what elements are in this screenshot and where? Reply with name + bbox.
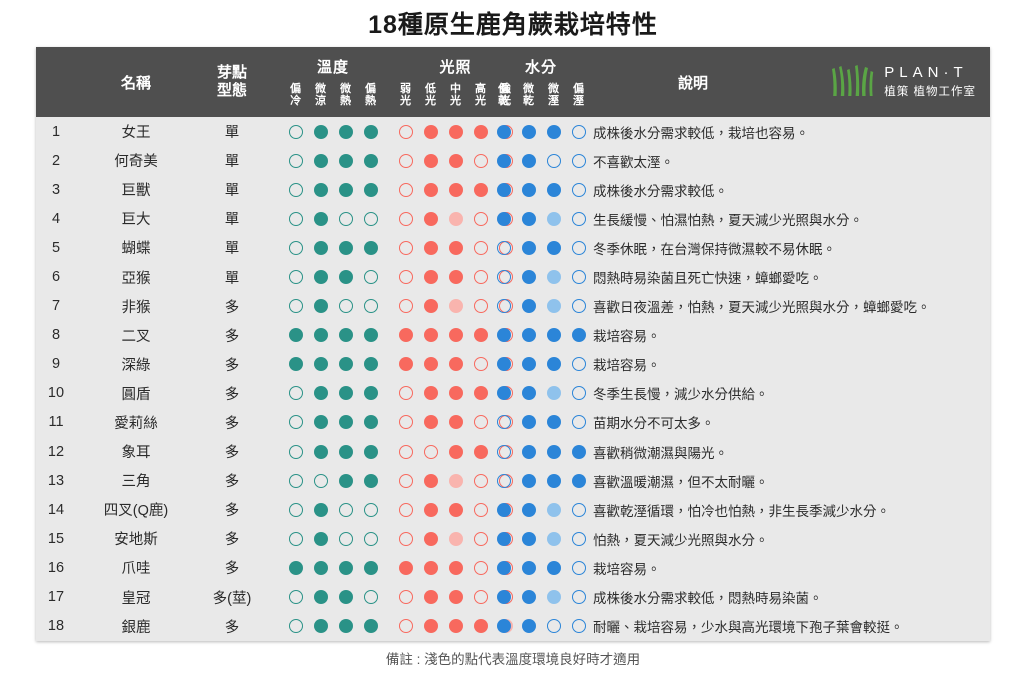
dot-temp-2-full [339, 241, 353, 255]
row-description: 冬季生長慢，減少水分供給。 [593, 383, 982, 403]
page-title: 18種原生鹿角蕨栽培特性 [0, 0, 1026, 44]
dot-light-2-full [449, 154, 463, 168]
dot-temp-1-full [314, 590, 328, 604]
table-row[interactable]: 10圓盾多冬季生長慢，減少水分供給。 [36, 379, 990, 408]
dot-water-2-full [547, 561, 561, 575]
dot-light-0-empty [399, 125, 413, 139]
row-species-name: 銀鹿 [76, 616, 196, 637]
dot-temp-2-empty [339, 503, 353, 517]
header-description: 說明 [593, 47, 793, 117]
dot-water-0-full [497, 561, 511, 575]
dot-light-1-empty [424, 445, 438, 459]
dot-temp-1-full [314, 270, 328, 284]
dot-water-3-empty [572, 561, 586, 575]
row-index: 13 [36, 473, 76, 489]
row-description: 生長緩慢、怕濕怕熱，夏天減少光照與水分。 [593, 209, 982, 229]
dot-water-3-empty [572, 386, 586, 400]
row-description: 喜歡稍微潮濕與陽光。 [593, 442, 982, 462]
dot-light-3-full [474, 328, 488, 342]
dot-water-1-full [522, 619, 536, 633]
dot-water-0-full [497, 212, 511, 226]
dot-water-2-full [547, 474, 561, 488]
dot-temp-1-full [314, 212, 328, 226]
row-bud-type: 單 [196, 150, 268, 171]
row-index: 9 [36, 356, 76, 372]
dot-temp-2-full [339, 183, 353, 197]
dot-water-2-full [547, 445, 561, 459]
dot-temp-2-full [339, 125, 353, 139]
row-description: 悶熱時易染菌且死亡快速，蟑螂愛吃。 [593, 267, 982, 287]
dot-water-1-full [522, 270, 536, 284]
dot-light-1-full [424, 590, 438, 604]
dot-light-2-full [449, 183, 463, 197]
dot-light-3-full [474, 125, 488, 139]
dot-temp-3-full [364, 415, 378, 429]
dot-light-0-full [399, 328, 413, 342]
dot-water-2-full [547, 241, 561, 255]
dot-water-0-full [497, 532, 511, 546]
dot-light-1-full [424, 125, 438, 139]
row-index: 11 [36, 414, 76, 430]
dot-water-3-empty [572, 154, 586, 168]
row-species-name: 安地斯 [76, 528, 196, 549]
dot-light-0-empty [399, 212, 413, 226]
dot-temp-2-full [339, 561, 353, 575]
dot-temp-1-full [314, 357, 328, 371]
dot-temp-1-full [314, 154, 328, 168]
row-bud-type: 多 [196, 325, 268, 346]
dot-temp-0-empty [289, 241, 303, 255]
dot-temp-2-full [339, 474, 353, 488]
dot-water-0-empty [497, 415, 511, 429]
dot-temp-2-full [339, 357, 353, 371]
row-species-name: 爪哇 [76, 557, 196, 578]
dot-temp-1-full [314, 241, 328, 255]
row-index: 8 [36, 327, 76, 343]
dot-light-2-full [449, 125, 463, 139]
dot-temp-0-empty [289, 474, 303, 488]
dot-light-2-full [449, 415, 463, 429]
dot-temp-0-empty [289, 590, 303, 604]
row-index: 6 [36, 269, 76, 285]
plant-brush-mark-icon [829, 65, 875, 99]
dot-water-1-full [522, 299, 536, 313]
row-species-name: 蝴蝶 [76, 237, 196, 258]
row-water-dots [491, 386, 591, 400]
row-bud-type: 多 [196, 528, 268, 549]
dot-temp-3-empty [364, 532, 378, 546]
dot-water-3-empty [572, 532, 586, 546]
table-row[interactable]: 5蝴蝶單冬季休眠，在台灣保持微濕較不易休眠。 [36, 233, 990, 262]
dot-light-1-full [424, 357, 438, 371]
row-species-name: 二叉 [76, 325, 196, 346]
row-index: 5 [36, 240, 76, 256]
dot-water-0-full [497, 357, 511, 371]
dot-temp-3-full [364, 154, 378, 168]
row-species-name: 女王 [76, 121, 196, 142]
dot-temp-2-full [339, 154, 353, 168]
row-bud-type: 多 [196, 499, 268, 520]
row-index: 1 [36, 124, 76, 140]
dot-temp-3-full [364, 619, 378, 633]
dot-temp-3-full [364, 183, 378, 197]
dot-water-2-full [547, 125, 561, 139]
row-temp-dots [283, 299, 383, 313]
dot-temp-1-full [314, 183, 328, 197]
dot-light-0-empty [399, 445, 413, 459]
dot-temp-0-full [289, 357, 303, 371]
row-temp-dots [283, 474, 383, 488]
header-sub-light-1: 低 光 [418, 83, 443, 108]
dot-temp-0-empty [289, 503, 303, 517]
table-row[interactable]: 11愛莉絲多苗期水分不可太多。 [36, 408, 990, 437]
row-water-dots [491, 183, 591, 197]
header-group-water: 水分 偏 乾 微 乾 微 溼 偏 溼 [491, 47, 591, 117]
dot-light-2-full [449, 270, 463, 284]
table-row[interactable]: 6亞猴單悶熱時易染菌且死亡快速，蟑螂愛吃。 [36, 262, 990, 291]
row-species-name: 非猴 [76, 296, 196, 317]
dot-temp-1-full [314, 619, 328, 633]
row-bud-type: 單 [196, 121, 268, 142]
dot-light-0-empty [399, 270, 413, 284]
dot-water-2-light [547, 386, 561, 400]
dot-temp-3-full [364, 445, 378, 459]
dot-light-3-empty [474, 154, 488, 168]
row-water-dots [491, 154, 591, 168]
table-row[interactable]: 17皇冠多(莖)成株後水分需求較低，悶熱時易染菌。 [36, 583, 990, 612]
dot-water-3-full [572, 474, 586, 488]
dot-temp-2-full [339, 619, 353, 633]
row-index: 16 [36, 560, 76, 576]
dot-light-2-full [449, 503, 463, 517]
dot-light-2-full [449, 561, 463, 575]
dot-temp-3-empty [364, 503, 378, 517]
header-bud-type: 芽點 型態 [196, 47, 268, 117]
row-temp-dots [283, 561, 383, 575]
row-temp-dots [283, 619, 383, 633]
row-temp-dots [283, 357, 383, 371]
header-sub-water-2: 微 溼 [541, 83, 566, 108]
row-water-dots [491, 241, 591, 255]
dot-water-1-full [522, 532, 536, 546]
row-water-dots [491, 474, 591, 488]
dot-water-2-empty [547, 154, 561, 168]
dot-light-3-full [474, 386, 488, 400]
row-species-name: 何奇美 [76, 150, 196, 171]
dot-light-2-full [449, 241, 463, 255]
dot-temp-2-full [339, 590, 353, 604]
dot-water-1-full [522, 328, 536, 342]
dot-temp-1-full [314, 532, 328, 546]
dot-water-3-empty [572, 503, 586, 517]
dot-temp-3-empty [364, 270, 378, 284]
row-index: 17 [36, 589, 76, 605]
table-row[interactable]: 16爪哇多栽培容易。 [36, 553, 990, 582]
table-row[interactable]: 8二叉多栽培容易。 [36, 321, 990, 350]
dot-water-1-full [522, 241, 536, 255]
dot-light-0-empty [399, 241, 413, 255]
dot-temp-3-empty [364, 299, 378, 313]
table-body: 1女王單成株後水分需求較低，栽培也容易。2何奇美單不喜歡太溼。3巨獸單成株後水分… [36, 117, 990, 641]
row-temp-dots [283, 503, 383, 517]
dot-light-3-empty [474, 241, 488, 255]
dot-water-0-empty [497, 445, 511, 459]
dot-light-1-full [424, 474, 438, 488]
dot-temp-0-empty [289, 415, 303, 429]
dot-temp-2-empty [339, 212, 353, 226]
dot-water-0-full [497, 386, 511, 400]
header-sub-water-1: 微 乾 [516, 83, 541, 108]
dot-light-0-empty [399, 532, 413, 546]
dot-temp-0-empty [289, 619, 303, 633]
row-species-name: 圓盾 [76, 383, 196, 404]
dot-temp-1-full [314, 561, 328, 575]
dot-light-1-full [424, 328, 438, 342]
header-sub-temp-2: 微 熱 [333, 83, 358, 108]
logo-en: PLAN·T [884, 64, 976, 83]
logo-zh: 植策 植物工作室 [884, 85, 976, 100]
dot-water-1-full [522, 561, 536, 575]
infographic-page: 18種原生鹿角蕨栽培特性 名稱 芽點 型態 溫度 偏 冷 [0, 0, 1026, 681]
dot-temp-0-empty [289, 125, 303, 139]
row-index: 12 [36, 444, 76, 460]
row-description: 栽培容易。 [593, 325, 982, 345]
dot-light-0-empty [399, 183, 413, 197]
table-header: 名稱 芽點 型態 溫度 偏 冷 微 涼 [36, 47, 990, 117]
dot-light-2-full [449, 590, 463, 604]
dot-light-1-full [424, 241, 438, 255]
dot-light-0-empty [399, 415, 413, 429]
row-water-dots [491, 270, 591, 284]
dot-water-0-full [497, 154, 511, 168]
dot-light-2-full [449, 386, 463, 400]
dot-water-2-light [547, 299, 561, 313]
dot-light-0-empty [399, 154, 413, 168]
dot-light-3-empty [474, 357, 488, 371]
dot-water-2-light [547, 270, 561, 284]
dot-light-1-full [424, 503, 438, 517]
row-bud-type: 多 [196, 412, 268, 433]
row-water-dots [491, 415, 591, 429]
row-description: 喜歡溫暖潮濕，但不太耐曬。 [593, 471, 982, 491]
dot-light-0-full [399, 561, 413, 575]
table-row[interactable]: 18銀鹿多耐曬、栽培容易，少水與高光環境下孢子葉會較挺。 [36, 612, 990, 641]
dot-water-0-full [497, 619, 511, 633]
dot-light-0-empty [399, 299, 413, 313]
row-index: 18 [36, 618, 76, 634]
dot-water-1-full [522, 183, 536, 197]
dot-water-3-full [572, 328, 586, 342]
table-row[interactable]: 12象耳多喜歡稍微潮濕與陽光。 [36, 437, 990, 466]
header-sub-temp-0: 偏 冷 [283, 83, 308, 108]
row-water-dots [491, 445, 591, 459]
row-index: 4 [36, 211, 76, 227]
row-bud-type: 多 [196, 470, 268, 491]
dot-water-0-full [497, 503, 511, 517]
row-temp-dots [283, 270, 383, 284]
row-bud-type: 單 [196, 237, 268, 258]
dot-temp-3-full [364, 241, 378, 255]
dot-water-0-empty [497, 299, 511, 313]
row-bud-type: 多(莖) [196, 587, 268, 608]
dot-water-2-empty [547, 619, 561, 633]
dot-water-3-empty [572, 619, 586, 633]
row-species-name: 巨獸 [76, 179, 196, 200]
row-description: 苗期水分不可太多。 [593, 412, 982, 432]
dot-light-3-empty [474, 590, 488, 604]
dot-temp-2-full [339, 270, 353, 284]
dot-water-1-full [522, 445, 536, 459]
row-temp-dots [283, 590, 383, 604]
row-bud-type: 多 [196, 383, 268, 404]
dot-water-3-full [572, 445, 586, 459]
dot-water-3-empty [572, 212, 586, 226]
row-species-name: 亞猴 [76, 267, 196, 288]
header-sub-light-0: 弱 光 [393, 83, 418, 108]
row-temp-dots [283, 212, 383, 226]
dot-water-1-full [522, 415, 536, 429]
dot-light-2-light [449, 212, 463, 226]
row-species-name: 皇冠 [76, 587, 196, 608]
dot-light-0-full [399, 357, 413, 371]
row-description: 栽培容易。 [593, 558, 982, 578]
header-sub-temp-1: 微 涼 [308, 83, 333, 108]
dot-light-0-empty [399, 386, 413, 400]
dot-temp-3-empty [364, 590, 378, 604]
dot-light-0-empty [399, 474, 413, 488]
dot-light-1-full [424, 154, 438, 168]
dot-temp-1-full [314, 445, 328, 459]
table-row[interactable]: 7非猴多喜歡日夜溫差，怕熱，夏天減少光照與水分，蟑螂愛吃。 [36, 292, 990, 321]
row-description: 成株後水分需求較低，悶熱時易染菌。 [593, 587, 982, 607]
footnote: 備註 : 淺色的點代表溫度環境良好時才適用 [0, 648, 1026, 668]
dot-water-0-empty [497, 474, 511, 488]
dot-water-3-empty [572, 125, 586, 139]
dot-light-1-full [424, 415, 438, 429]
dot-water-2-light [547, 212, 561, 226]
table-row[interactable]: 15安地斯多怕熱，夏天減少光照與水分。 [36, 524, 990, 553]
dot-temp-0-empty [289, 212, 303, 226]
row-water-dots [491, 328, 591, 342]
row-temp-dots [283, 386, 383, 400]
dot-light-3-empty [474, 212, 488, 226]
dot-water-1-full [522, 154, 536, 168]
dot-light-3-empty [474, 474, 488, 488]
row-description: 成株後水分需求較低。 [593, 180, 982, 200]
dot-temp-3-full [364, 328, 378, 342]
header-sub-water-0: 偏 乾 [491, 83, 516, 108]
row-temp-dots [283, 241, 383, 255]
row-water-dots [491, 212, 591, 226]
dot-water-1-full [522, 590, 536, 604]
dot-temp-1-full [314, 299, 328, 313]
row-species-name: 愛莉絲 [76, 412, 196, 433]
row-description: 喜歡乾溼循環，怕冷也怕熱，非生長季減少水分。 [593, 500, 982, 520]
dot-water-3-empty [572, 270, 586, 284]
dot-temp-1-full [314, 386, 328, 400]
table-row[interactable]: 13三角多喜歡溫暖潮濕，但不太耐曬。 [36, 466, 990, 495]
dot-water-3-empty [572, 590, 586, 604]
dot-water-3-empty [572, 357, 586, 371]
header-sub-temp-3: 偏 熱 [358, 83, 383, 108]
dot-water-0-full [497, 125, 511, 139]
dot-temp-2-empty [339, 299, 353, 313]
dot-water-3-empty [572, 299, 586, 313]
dot-light-2-full [449, 357, 463, 371]
row-water-dots [491, 619, 591, 633]
row-bud-type: 多 [196, 557, 268, 578]
dot-light-3-empty [474, 299, 488, 313]
dot-light-2-full [449, 445, 463, 459]
dot-light-3-empty [474, 415, 488, 429]
row-temp-dots [283, 328, 383, 342]
dot-light-0-empty [399, 619, 413, 633]
dot-light-2-light [449, 532, 463, 546]
dot-water-2-light [547, 503, 561, 517]
header-sub-light-2: 中 光 [443, 83, 468, 108]
table-row[interactable]: 3巨獸單成株後水分需求較低。 [36, 175, 990, 204]
dot-temp-3-full [364, 561, 378, 575]
dot-temp-2-full [339, 328, 353, 342]
dot-water-2-full [547, 357, 561, 371]
header-sub-light-3: 高 光 [468, 83, 493, 108]
row-description: 成株後水分需求較低，栽培也容易。 [593, 122, 982, 142]
table-row[interactable]: 2何奇美單不喜歡太溼。 [36, 146, 990, 175]
row-index: 2 [36, 153, 76, 169]
dot-light-3-empty [474, 532, 488, 546]
dot-light-1-full [424, 270, 438, 284]
dot-light-3-empty [474, 270, 488, 284]
dot-light-1-full [424, 561, 438, 575]
dot-temp-1-full [314, 503, 328, 517]
row-index: 10 [36, 385, 76, 401]
header-sub-water-3: 偏 溼 [566, 83, 591, 108]
dot-light-1-full [424, 386, 438, 400]
row-water-dots [491, 299, 591, 313]
table-row[interactable]: 1女王單成株後水分需求較低，栽培也容易。 [36, 117, 990, 146]
dot-water-2-full [547, 183, 561, 197]
brand-logo: PLAN·T 植策 植物工作室 [829, 61, 976, 103]
dot-water-3-empty [572, 241, 586, 255]
dot-light-3-empty [474, 561, 488, 575]
dot-water-0-empty [497, 270, 511, 284]
dot-temp-0-empty [289, 445, 303, 459]
dot-water-0-full [497, 590, 511, 604]
dot-water-1-full [522, 125, 536, 139]
header-group-temperature: 溫度 偏 冷 微 涼 微 熱 偏 熱 [283, 47, 383, 117]
dot-light-1-full [424, 183, 438, 197]
table-row[interactable]: 14四叉(Q鹿)多喜歡乾溼循環，怕冷也怕熱，非生長季減少水分。 [36, 495, 990, 524]
dot-light-3-empty [474, 503, 488, 517]
dot-temp-1-full [314, 328, 328, 342]
row-description: 怕熱，夏天減少光照與水分。 [593, 529, 982, 549]
row-water-dots [491, 125, 591, 139]
dot-temp-0-empty [289, 299, 303, 313]
dot-water-1-full [522, 357, 536, 371]
dot-temp-0-empty [289, 183, 303, 197]
row-temp-dots [283, 445, 383, 459]
dot-water-2-light [547, 532, 561, 546]
row-water-dots [491, 561, 591, 575]
table-row[interactable]: 4巨大單生長緩慢、怕濕怕熱，夏天減少光照與水分。 [36, 204, 990, 233]
dot-temp-1-full [314, 125, 328, 139]
row-temp-dots [283, 532, 383, 546]
dot-water-1-full [522, 386, 536, 400]
dot-light-2-light [449, 299, 463, 313]
row-description: 不喜歡太溼。 [593, 151, 982, 171]
dot-light-1-full [424, 619, 438, 633]
table-row[interactable]: 9深綠多栽培容易。 [36, 350, 990, 379]
